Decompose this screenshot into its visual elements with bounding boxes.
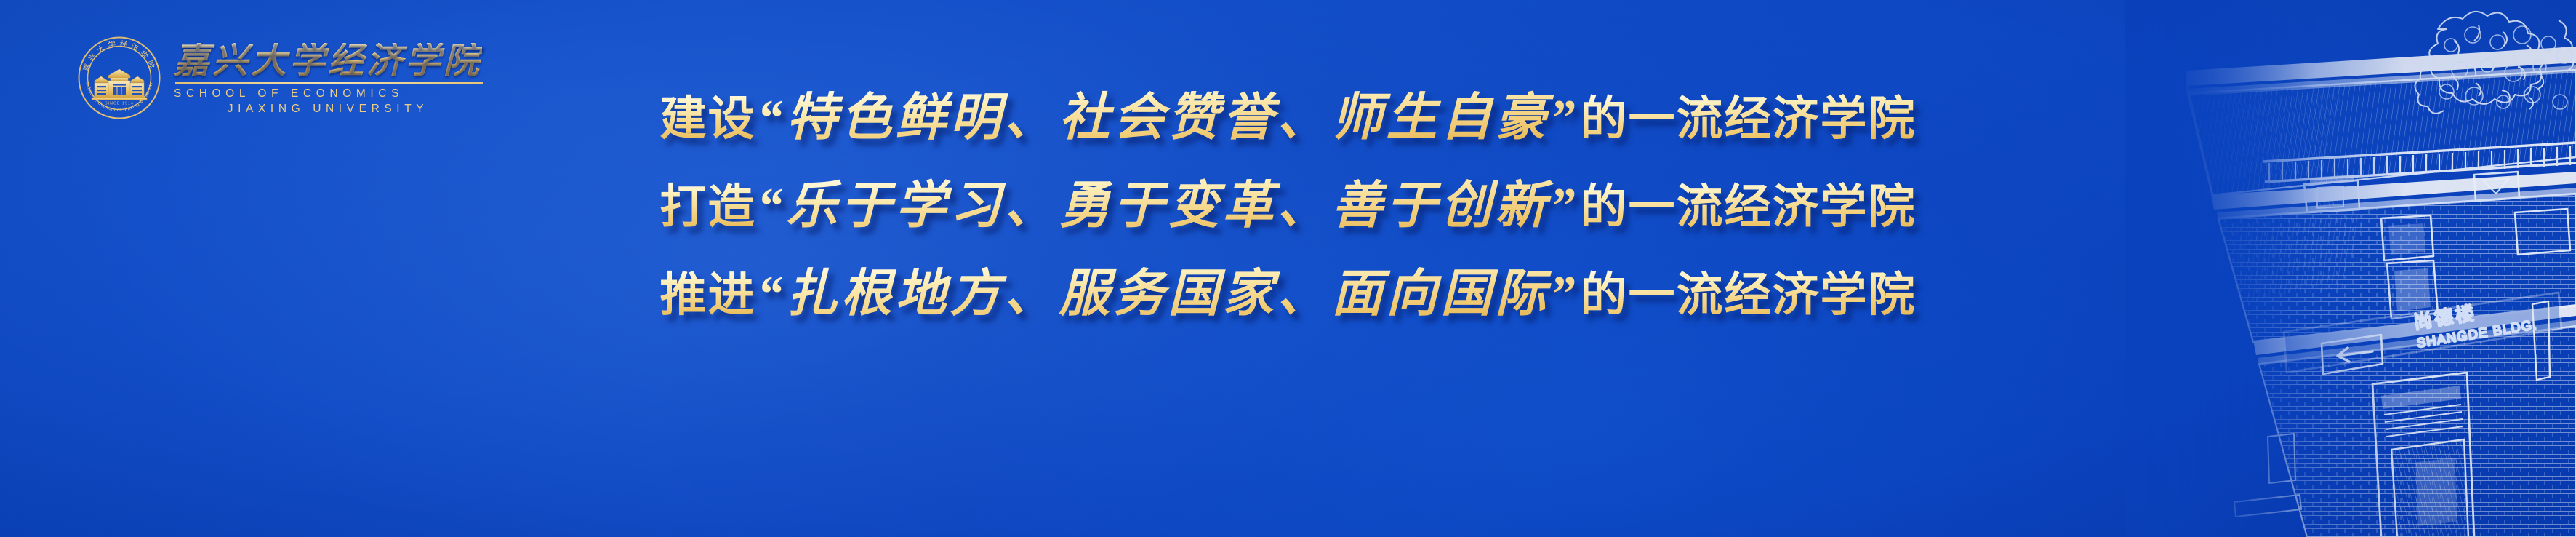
background-sheen-right: [670, 0, 2473, 537]
slogan-2-quote: “乐于学习、勇于变革、善于创新”: [756, 178, 1581, 234]
school-wordmark: 嘉兴大学经济学院 SCHOOL OF ECONOMICS JIAXING UNI…: [174, 40, 482, 116]
emblem-since-text: SINCE 1914: [105, 102, 134, 106]
school-name-cn: 嘉兴大学经济学院: [174, 43, 482, 79]
slogan-2-prefix: 打造: [660, 182, 756, 233]
school-name-en-line1: SCHOOL OF ECONOMICS: [174, 87, 482, 100]
artwork-left-fade: [2125, 0, 2314, 537]
school-logo[interactable]: 嘉兴大学经济学院 School of Economics Jiaxing Uni…: [76, 35, 482, 121]
slogan-2-suffix: 的一流经济学院: [1581, 182, 1917, 233]
slogan-3-prefix: 推进: [660, 270, 756, 321]
slogan-1-prefix: 建设: [660, 94, 756, 145]
slogan-group: 建设 “特色鲜明、社会赞誉、师生自豪” 的一流经济学院 打造 “乐于学习、勇于变…: [0, 90, 2576, 322]
sign-label-en: SHANGDE BLDG.: [2416, 317, 2539, 351]
emblem-arc-top-text: 嘉兴大学经济学院: [81, 39, 158, 73]
slogan-1-suffix: 的一流经济学院: [1581, 94, 1917, 145]
slogan-1-quote: “特色鲜明、社会赞誉、师生自豪”: [756, 90, 1581, 146]
wordmark-divider: [175, 82, 483, 84]
slogan-3-quote: “扎根地方、服务国家、面向国际”: [756, 266, 1581, 322]
slogan-line-1: 建设 “特色鲜明、社会赞誉、师生自豪” 的一流经济学院: [660, 90, 1917, 146]
sign-label-cn: 尚德楼: [2412, 302, 2478, 333]
school-emblem-icon: 嘉兴大学经济学院 School of Economics Jiaxing Uni…: [76, 35, 162, 121]
school-name-en-line2: JIAXING UNIVERSITY: [174, 103, 482, 116]
site-banner: 尚德楼 SHANGDE BLDG.: [0, 0, 2576, 537]
slogan-3-suffix: 的一流经济学院: [1581, 270, 1917, 321]
slogan-line-3: 推进 “扎根地方、服务国家、面向国际” 的一流经济学院: [660, 266, 1917, 322]
campus-building-lineart: 尚德楼 SHANGDE BLDG.: [2125, 0, 2576, 537]
slogan-line-2: 打造 “乐于学习、勇于变革、善于创新” 的一流经济学院: [660, 178, 1917, 234]
